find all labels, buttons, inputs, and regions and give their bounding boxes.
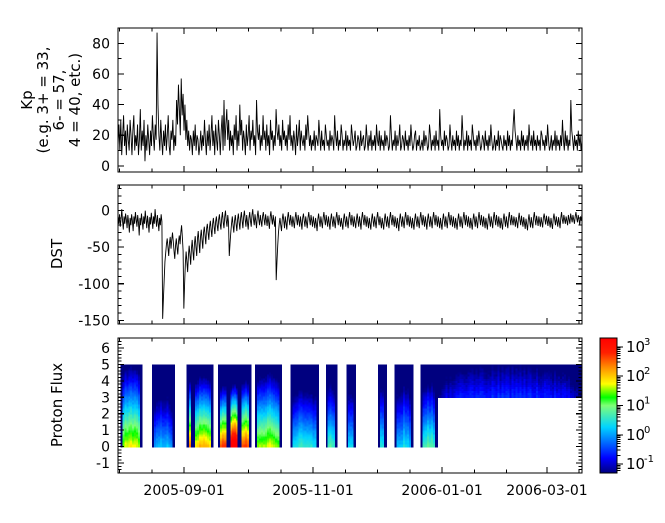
x-tick-label: 2006-01-01 <box>401 483 482 499</box>
x-tick-label: 2005-11-01 <box>272 483 353 499</box>
pf-y-tick-label: 6 <box>101 341 110 357</box>
colorbar: 10310210110010-1 <box>600 337 654 473</box>
x-tick-label: 2006-03-01 <box>506 483 587 499</box>
panel-dst: -150-100-500 DST <box>48 185 582 329</box>
colorbar-tick-exponent: 2 <box>644 366 650 377</box>
pf-y-tick-label: -1 <box>96 456 110 472</box>
panel-proton-flux: -10123456 2005-09-012005-11-012006-01-01… <box>48 338 588 499</box>
kp-axis-label: Kp(e.g. 3+ = 33,6- = 57,4 = 40, etc.) <box>18 47 84 154</box>
pf-x-tick-labels: 2005-09-012005-11-012006-01-012006-03-01 <box>143 483 587 499</box>
panel-kp: 020406080 Kp(e.g. 3+ = 33,6- = 57,4 = 40… <box>18 28 582 175</box>
pf-y-tick-label: 3 <box>101 390 110 406</box>
x-tick-label: 2005-09-01 <box>143 483 224 499</box>
dst-plot-background <box>118 185 582 324</box>
pf-y-tick-label: 1 <box>101 423 110 439</box>
colorbar-tick-label: 10 <box>626 455 645 473</box>
pf-y-tick-label: 0 <box>101 440 110 456</box>
kp-y-tick-label: 0 <box>101 159 110 175</box>
pf-y-tick-label: 2 <box>101 407 110 423</box>
pf-y-tick-label: 4 <box>101 374 110 390</box>
dst-y-tick-label: -100 <box>78 277 110 293</box>
colorbar-tick-exponent: -1 <box>644 454 654 465</box>
dst-y-tick-label: 0 <box>101 204 110 220</box>
figure-canvas: 020406080 Kp(e.g. 3+ = 33,6- = 57,4 = 40… <box>0 0 665 523</box>
colorbar-tick-label: 10 <box>626 397 645 415</box>
kp-y-tick-label: 80 <box>92 36 110 52</box>
kp-axis-label-line: 4 = 40, etc.) <box>66 53 84 147</box>
kp-y-tick-label: 20 <box>92 128 110 144</box>
colorbar-gradient <box>600 338 617 473</box>
colorbar-tick-exponent: 1 <box>644 396 650 407</box>
dst-axis-label: DST <box>48 238 66 269</box>
colorbar-tick-label: 10 <box>626 426 645 444</box>
colorbar-tick-exponent: 0 <box>644 425 650 436</box>
kp-y-tick-label: 40 <box>92 98 110 114</box>
dst-y-tick-label: -50 <box>87 240 110 256</box>
colorbar-ticks <box>617 347 623 471</box>
colorbar-tick-exponent: 3 <box>644 337 650 348</box>
proton-flux-axis-label: Proton Flux <box>48 363 66 447</box>
multi-panel-plot: 020406080 Kp(e.g. 3+ = 33,6- = 57,4 = 40… <box>0 0 665 523</box>
colorbar-tick-label: 10 <box>626 367 645 385</box>
dst-y-tick-label: -150 <box>78 313 110 329</box>
colorbar-tick-label: 10 <box>626 338 645 356</box>
pf-y-tick-label: 5 <box>101 357 110 373</box>
colorbar-tick-labels: 10310210110010-1 <box>626 337 654 473</box>
kp-y-tick-label: 60 <box>92 67 110 83</box>
